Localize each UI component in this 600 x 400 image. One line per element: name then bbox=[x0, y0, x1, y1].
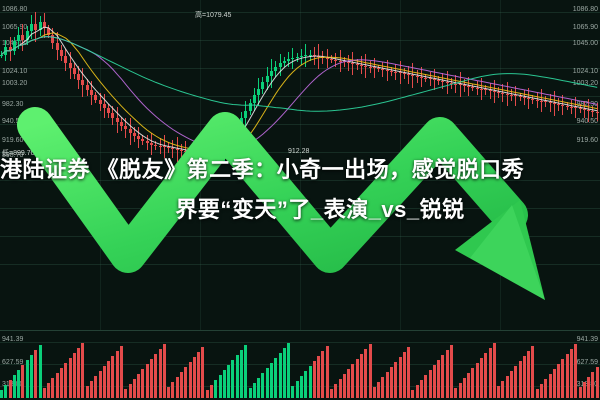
headline-text: 港陆证券 《脱友》第二季：小奇一出场，感觉脱口秀 界要“变天”了_表演_vs_锐… bbox=[0, 150, 600, 230]
headline-line-2: 界要“变天”了_表演_vs_锐锐 bbox=[0, 190, 600, 230]
screenshot-root: 1086.80 1065.90 1045.00 1024.10 1003.20 … bbox=[0, 0, 600, 400]
headline-line-1: 港陆证券 《脱友》第二季：小奇一出场，感觉脱口秀 bbox=[0, 150, 600, 190]
